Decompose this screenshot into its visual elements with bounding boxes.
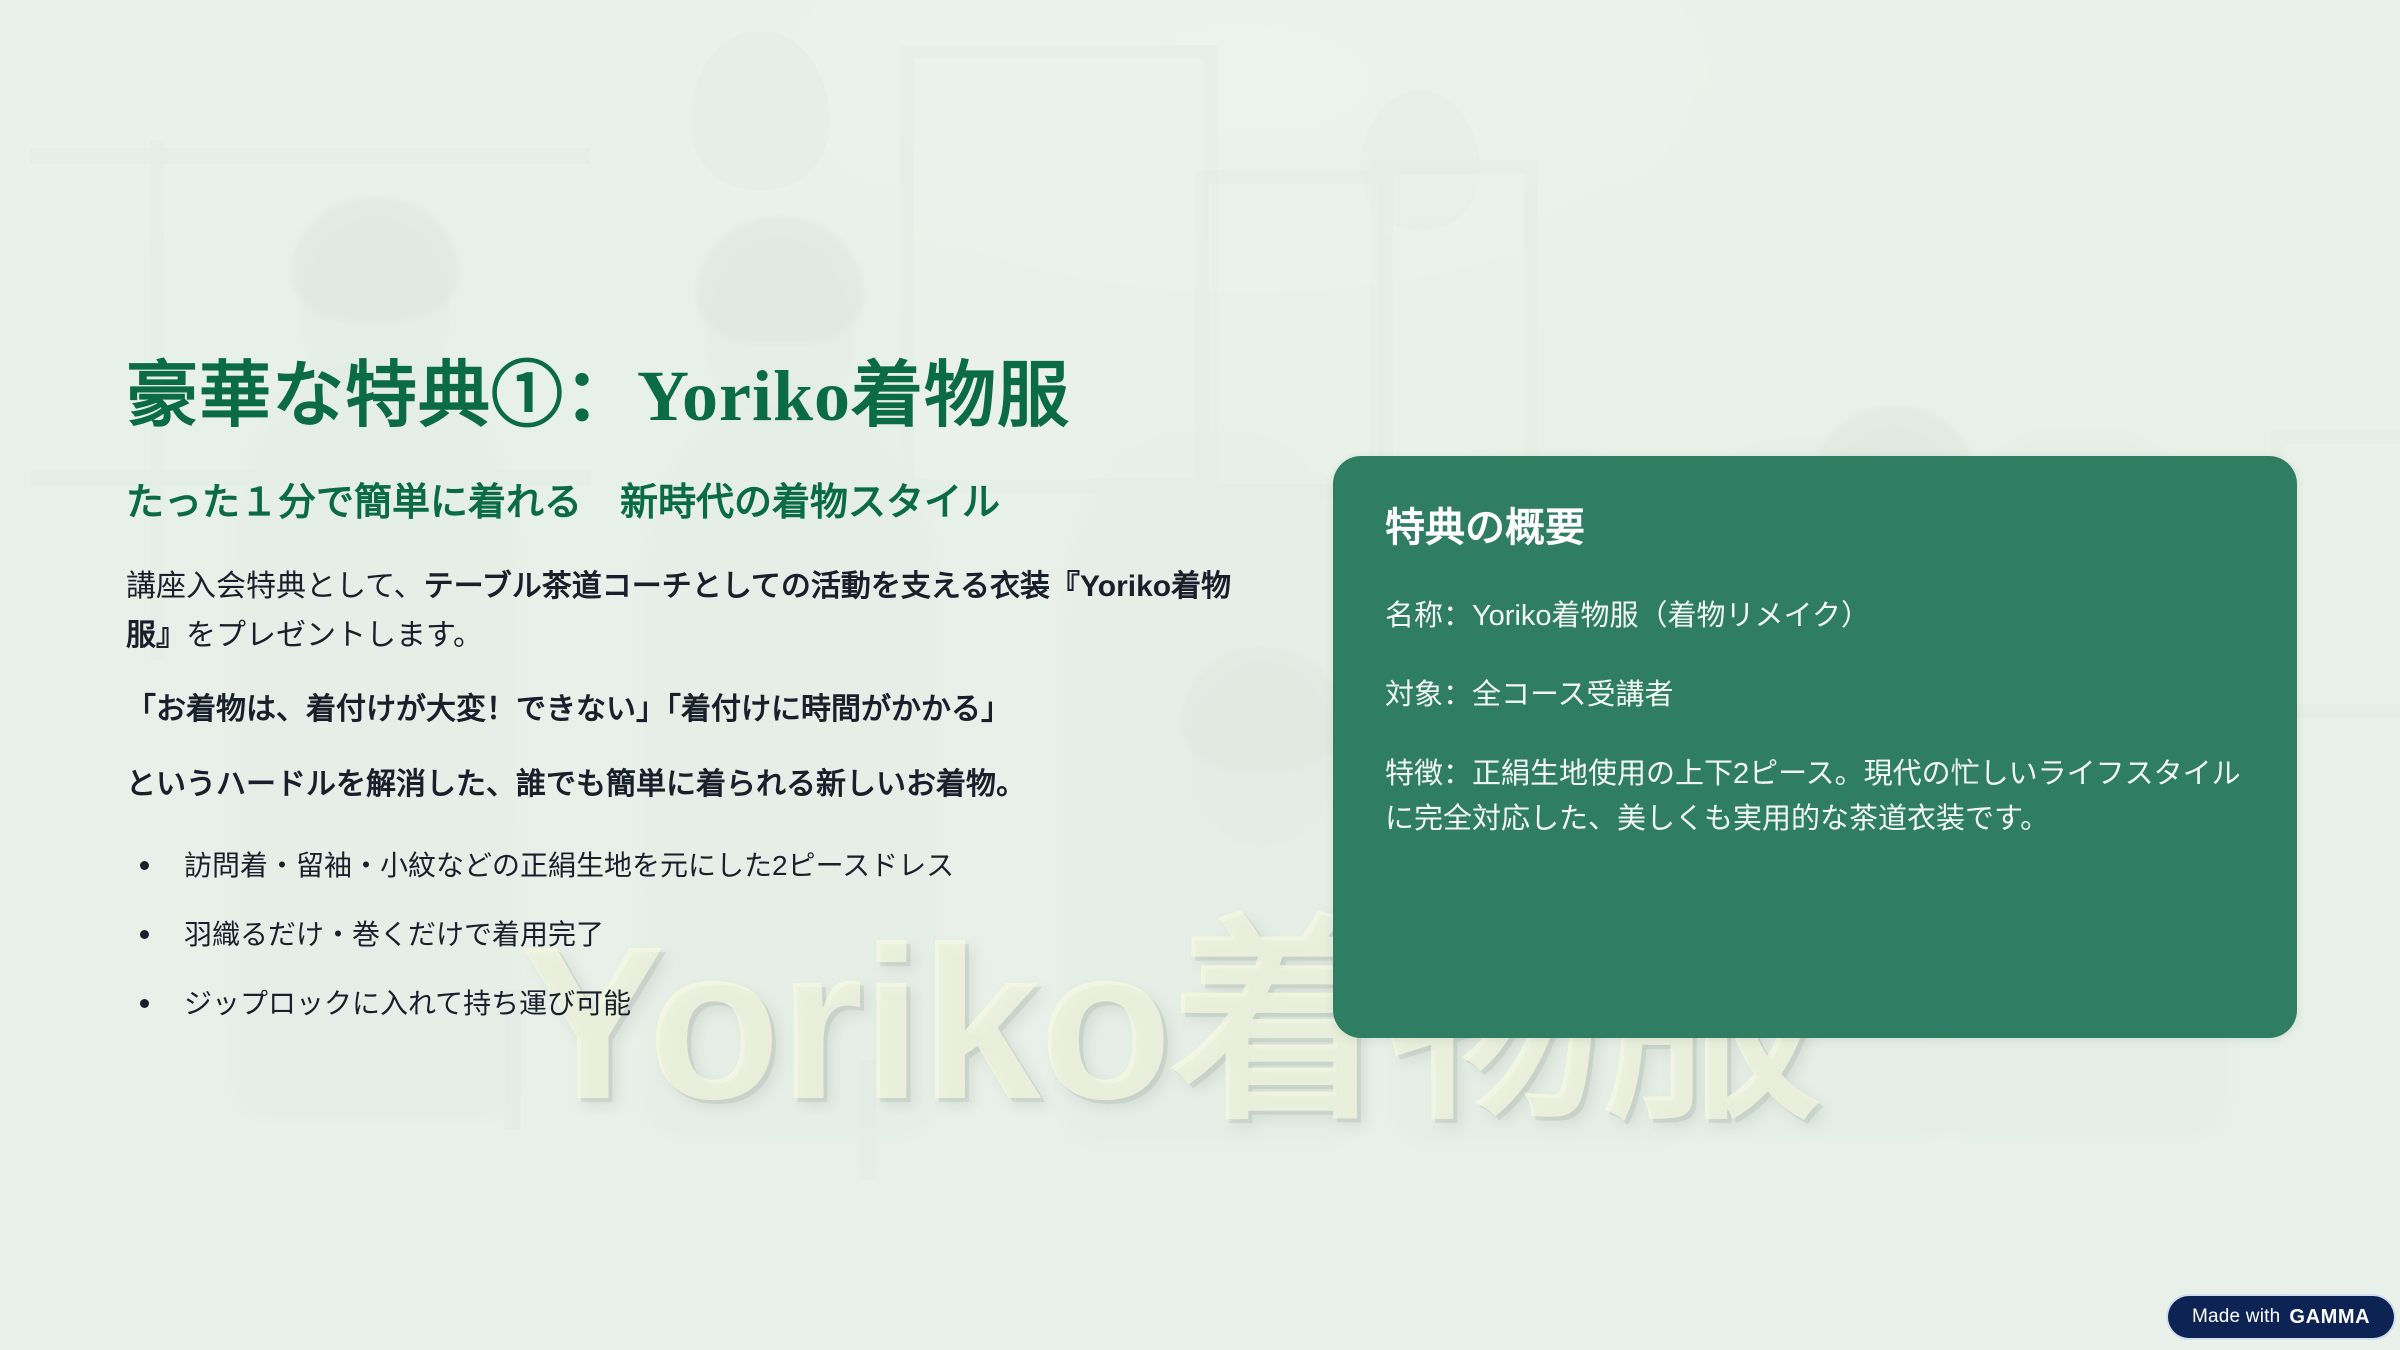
card-line-name: 名称：Yoriko着物服（着物リメイク） xyxy=(1385,594,2245,639)
pain-point-paragraph: 「お着物は、着付けが大変！できない」「着付けに時間がかかる」 xyxy=(126,686,1276,735)
gamma-wordmark: GAMMA xyxy=(2289,1306,2370,1329)
solution-paragraph: というハードルを解消した、誰でも簡単に着られる新しいお着物。 xyxy=(126,761,1276,810)
subheading: たった１分で簡単に着れる 新時代の着物スタイル xyxy=(126,478,1276,529)
card-line-feature: 特徴：正絹生地使用の上下2ピース。現代の忙しいライフスタイルに完全対応した、美し… xyxy=(1385,752,2245,842)
made-with-label: Made with xyxy=(2192,1306,2280,1328)
slide-canvas: Yoriko着物服 豪華な特典①：Yoriko着物服 たった１分で簡単に着れる … xyxy=(0,0,2400,1350)
intro-text-after: をプレゼントします。 xyxy=(186,619,483,652)
intro-paragraph: 講座入会特典として、テーブル茶道コーチとしての活動を支える衣装『Yoriko着物… xyxy=(126,563,1276,660)
list-item: ジップロックに入れて持ち運び可能 xyxy=(126,984,1276,1023)
card-line-target: 対象：全コース受講者 xyxy=(1385,673,2245,718)
benefit-summary-card: 特典の概要 名称：Yoriko着物服（着物リメイク） 対象：全コース受講者 特徴… xyxy=(1333,456,2297,1038)
card-title: 特典の概要 xyxy=(1385,504,2245,552)
intro-text-before: 講座入会特典として、 xyxy=(126,570,424,603)
slide-content: 豪華な特典①：Yoriko着物服 たった１分で簡単に着れる 新時代の着物スタイル… xyxy=(0,0,2400,1350)
page-title: 豪華な特典①：Yoriko着物服 xyxy=(126,355,1070,438)
made-with-gamma-badge[interactable]: Made with GAMMA xyxy=(2168,1296,2394,1338)
feature-bullet-list: 訪問着・留袖・小紋などの正絹生地を元にした2ピースドレス 羽織るだけ・巻くだけで… xyxy=(126,846,1276,1024)
left-column: たった１分で簡単に着れる 新時代の着物スタイル 講座入会特典として、テーブル茶道… xyxy=(126,478,1276,1053)
list-item: 羽織るだけ・巻くだけで着用完了 xyxy=(126,915,1276,954)
list-item: 訪問着・留袖・小紋などの正絹生地を元にした2ピースドレス xyxy=(126,846,1276,885)
